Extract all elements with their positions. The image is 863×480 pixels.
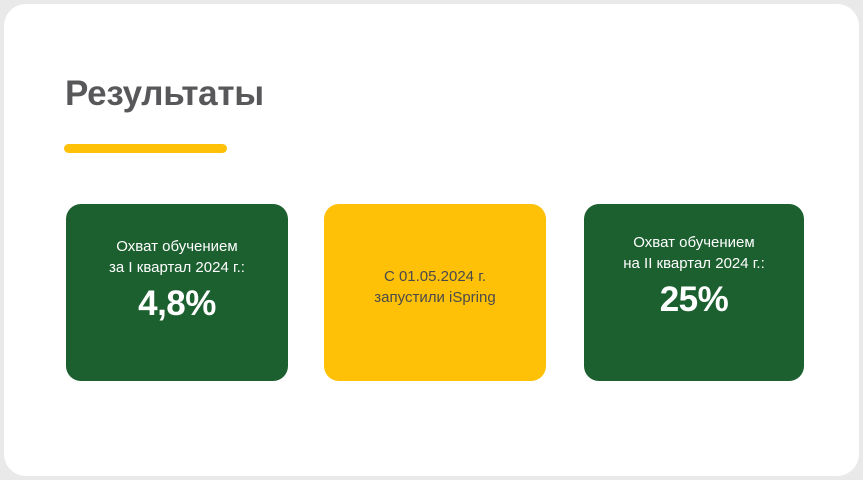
result-card-value: 4,8%: [138, 284, 216, 324]
result-card-caption: Охват обучением на II квартал 2024 г.:: [623, 232, 765, 274]
title-accent-bar: [64, 144, 227, 153]
result-card-value: 25%: [660, 280, 729, 320]
slide-canvas: Результаты Охват обучением за I квартал …: [4, 4, 859, 476]
result-card-ispring-launch: С 01.05.2024 г. запустили iSpring: [324, 204, 546, 381]
page-title: Результаты: [65, 72, 264, 116]
result-card-caption: С 01.05.2024 г. запустили iSpring: [374, 266, 495, 308]
result-card-coverage-q2: Охват обучением на II квартал 2024 г.: 2…: [584, 204, 804, 381]
results-card-group: Охват обучением за I квартал 2024 г.: 4,…: [4, 204, 859, 384]
result-card-caption: Охват обучением за I квартал 2024 г.:: [109, 236, 245, 278]
result-card-coverage-q1: Охват обучением за I квартал 2024 г.: 4,…: [66, 204, 288, 381]
